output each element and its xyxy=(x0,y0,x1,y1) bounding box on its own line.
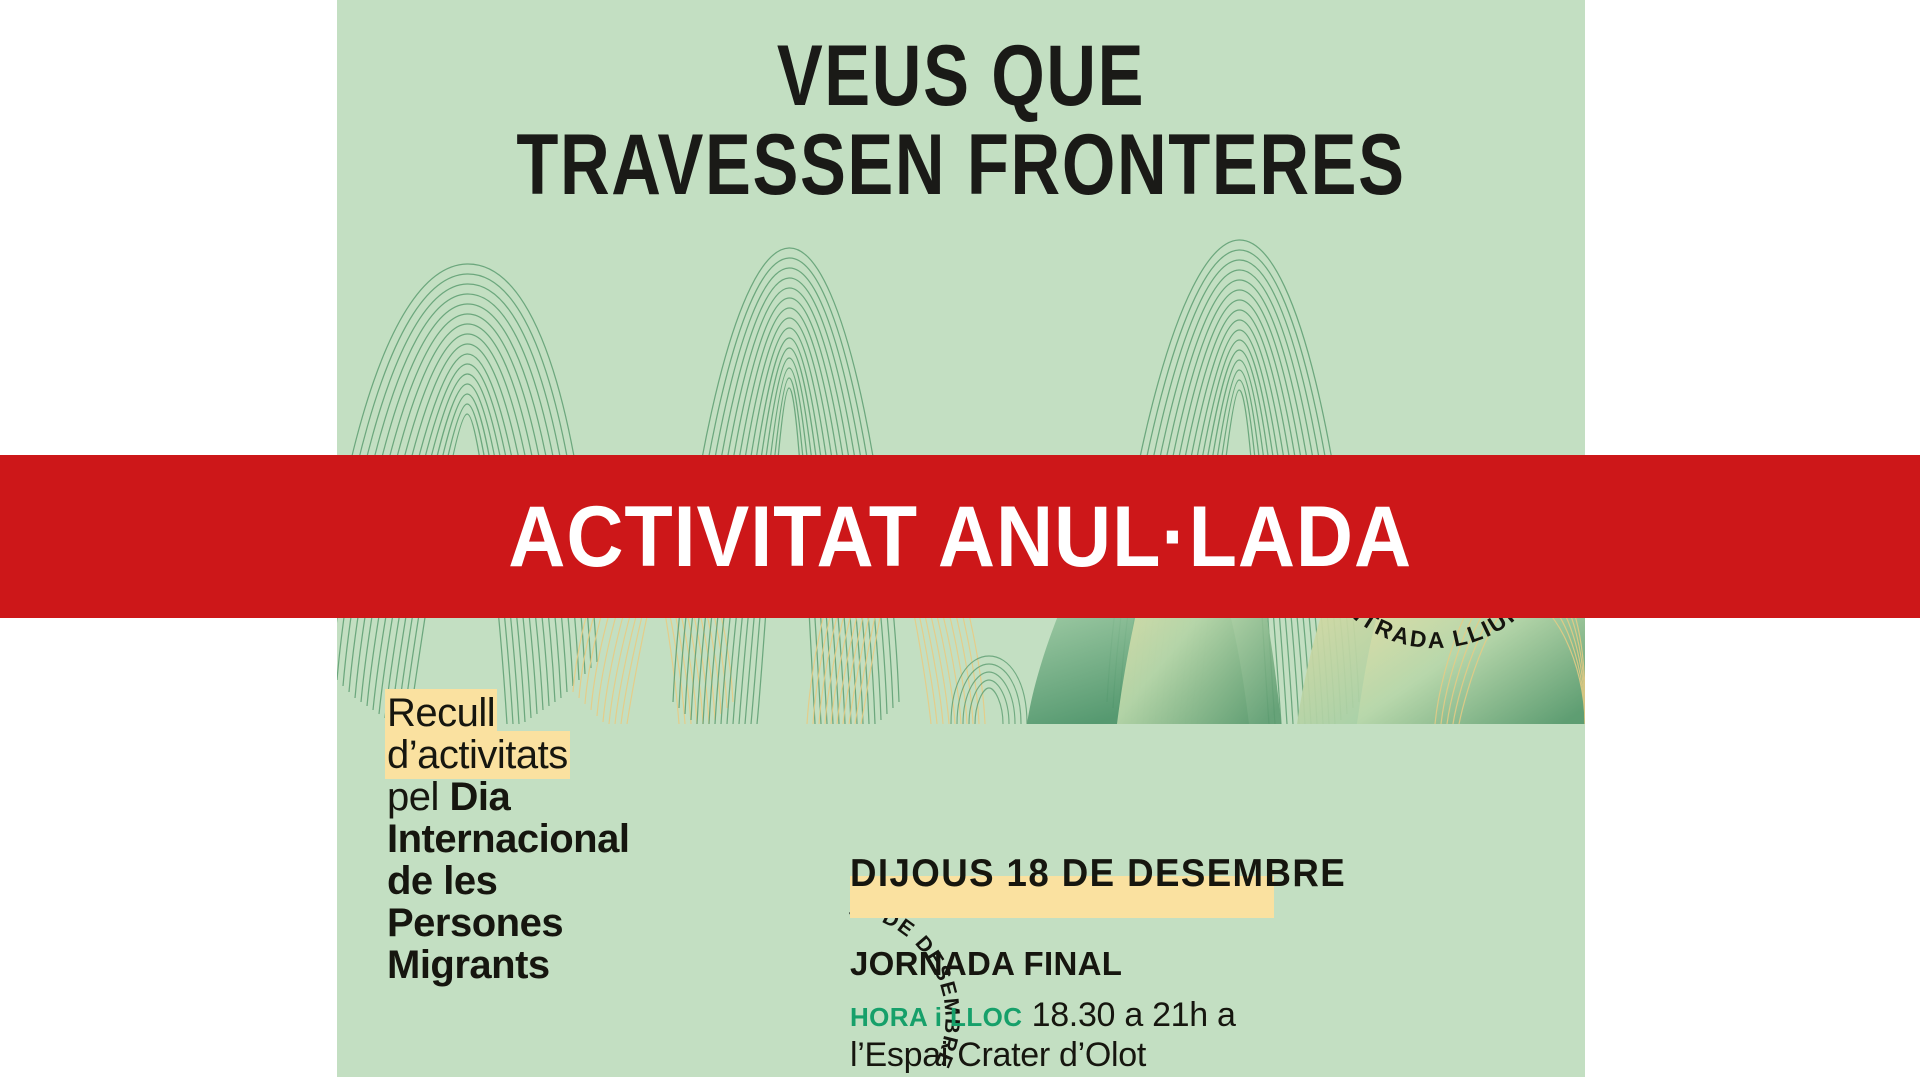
description-line-2: d’activitats xyxy=(387,734,687,776)
event-details: HORA i LLOC 18.30 a 21h a l’Espai Crater… xyxy=(850,995,1410,1075)
description-line-3-prefix: pel xyxy=(387,775,450,819)
description-line-1-text: Recull xyxy=(387,691,495,735)
cancellation-banner: ACTIVITAT ANUL·LADA xyxy=(0,455,1920,618)
poster-title-line-1: VEUS QUE xyxy=(462,34,1460,119)
screenshot-canvas: VEUS QUE TRAVESSEN FRONTERES xyxy=(0,0,1920,1077)
event-hora-lloc-label: HORA i LLOC xyxy=(850,1002,1022,1032)
description-line-3: pel Dia xyxy=(387,776,687,818)
event-title: JORNADA FINAL xyxy=(850,945,1410,983)
cancellation-banner-text: ACTIVITAT ANUL·LADA xyxy=(508,494,1412,580)
description-line-4: Internacional xyxy=(387,818,687,860)
description-line-2-text: d’activitats xyxy=(387,733,568,777)
event-date: DIJOUS 18 DE DESEMBRE xyxy=(850,852,1346,896)
event-lloc-value: l’Espai Crater d’Olot xyxy=(850,1035,1410,1075)
event-hora-value: 18.30 a 21h a xyxy=(1022,996,1235,1034)
event-date-wrap: DIJOUS 18 DE DESEMBRE xyxy=(850,852,1410,914)
description-line-5: de les xyxy=(387,860,687,902)
poster-event-block: DIJOUS 18 DE DESEMBRE JORNADA FINAL HORA… xyxy=(850,852,1410,1075)
poster-title-line-2: TRAVESSEN FRONTERES xyxy=(462,123,1460,208)
description-line-1: Recull xyxy=(387,692,687,734)
description-line-7: Migrants xyxy=(387,944,687,986)
description-line-6: Persones xyxy=(387,902,687,944)
poster-description-block: Recull d’activitats pel Dia Internaciona… xyxy=(387,692,687,986)
description-line-3-emphasis: Dia xyxy=(450,775,511,819)
poster-title: VEUS QUE TRAVESSEN FRONTERES xyxy=(337,34,1585,208)
